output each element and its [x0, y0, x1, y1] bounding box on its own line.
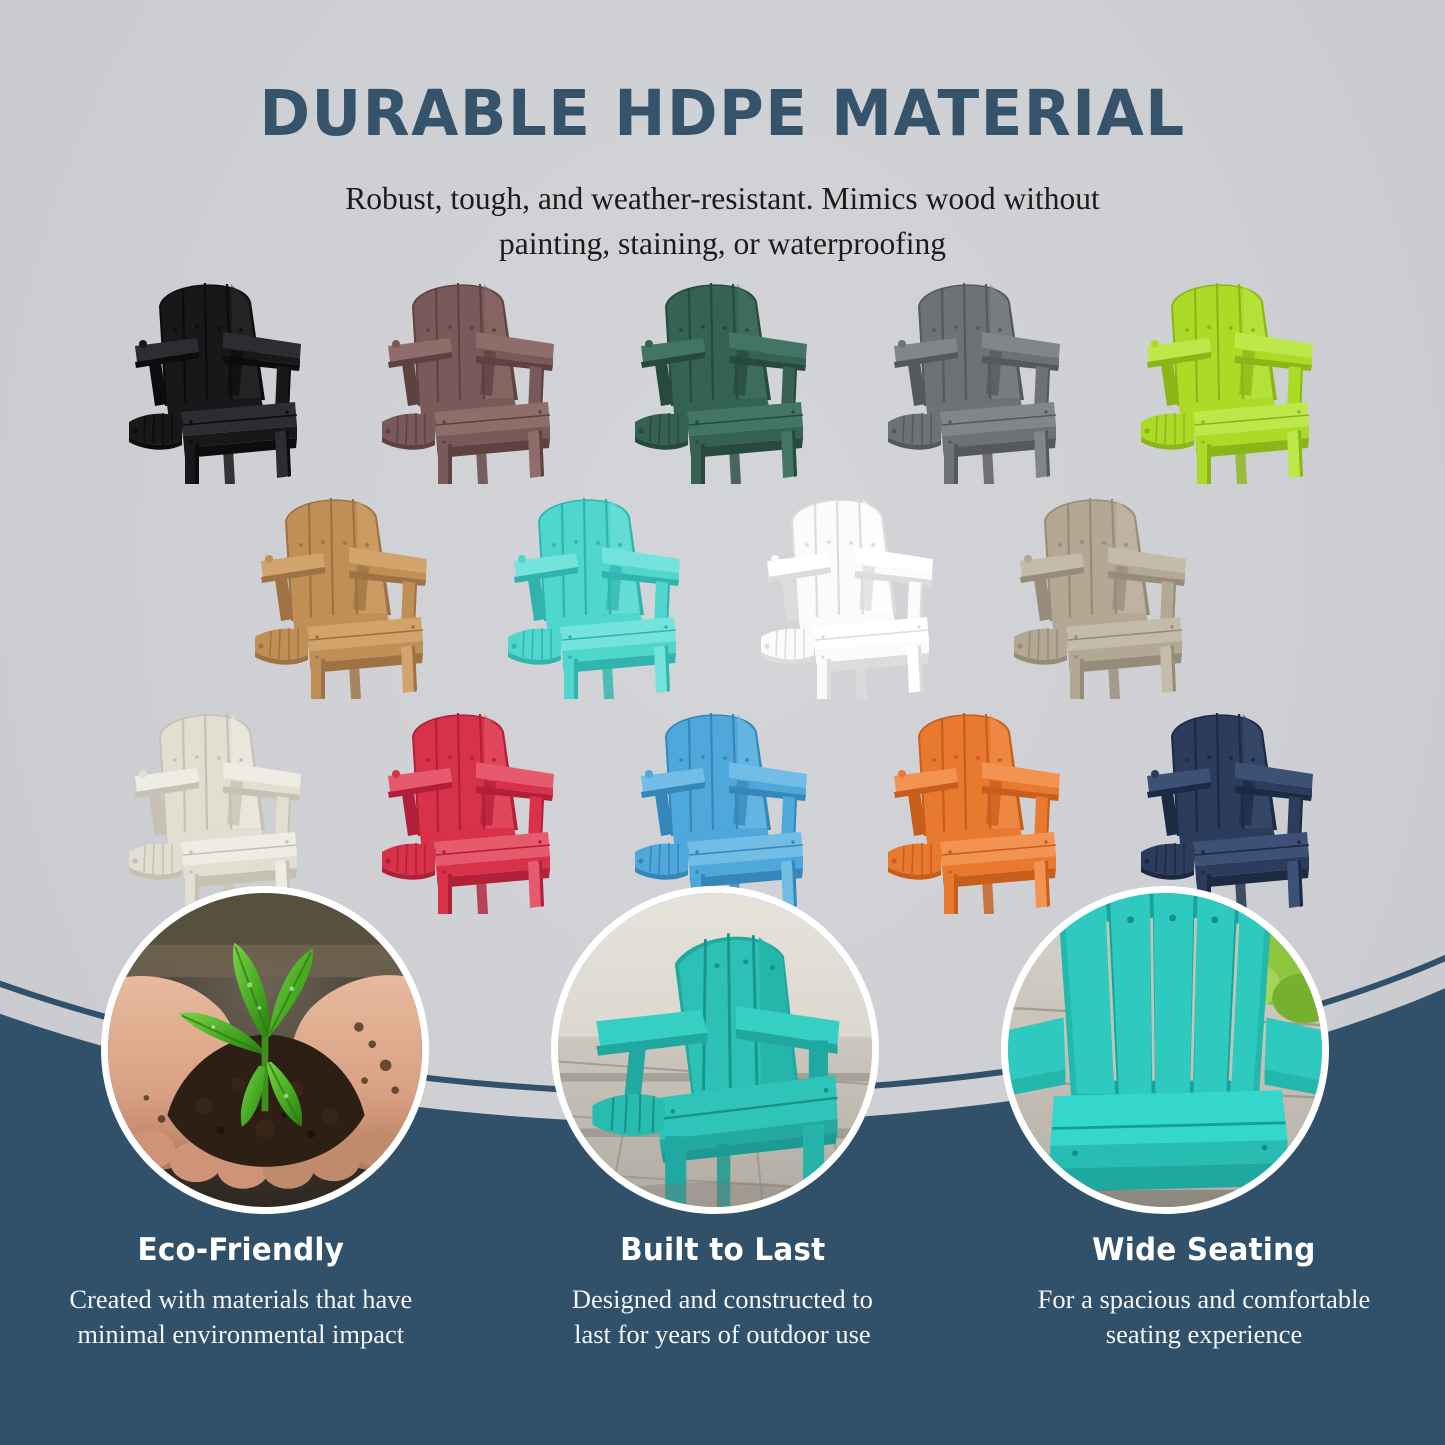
feature-built-to-last: Built to Last Designed and constructed t…	[482, 1232, 964, 1352]
feature-photo-eco-friendly	[101, 886, 429, 1214]
chair-swatch-navy-blue[interactable]	[1131, 702, 1327, 914]
feature-body-line-1: Designed and constructed to	[572, 1284, 873, 1314]
feature-body-line-1: Created with materials that have	[69, 1284, 412, 1314]
feature-photo-wide-seating	[1001, 886, 1329, 1214]
chair-row-1	[0, 272, 1445, 484]
chair-swatch-black[interactable]	[119, 272, 315, 484]
chair-swatch-red[interactable]	[372, 702, 568, 914]
chair-row-3	[0, 702, 1445, 914]
page-title: DURABLE HDPE MATERIAL	[22, 82, 1424, 145]
chair-swatch-gray[interactable]	[878, 272, 1074, 484]
chair-color-grid	[0, 272, 1445, 914]
header: DURABLE HDPE MATERIAL Robust, tough, and…	[0, 0, 1445, 266]
chair-swatch-brown[interactable]	[372, 272, 568, 484]
chair-row-2	[0, 487, 1445, 699]
chair-swatch-lime-green[interactable]	[1131, 272, 1327, 484]
feature-body: For a spacious and comfortable seating e…	[977, 1282, 1431, 1352]
feature-body-line-1: For a spacious and comfortable	[1038, 1284, 1371, 1314]
feature-body-line-2: seating experience	[1106, 1319, 1302, 1349]
chair-swatch-teak[interactable]	[245, 487, 441, 699]
feature-title: Built to Last	[507, 1232, 938, 1268]
infographic-canvas: DURABLE HDPE MATERIAL Robust, tough, and…	[0, 0, 1445, 1445]
feature-captions: Eco-Friendly Created with materials that…	[0, 1232, 1445, 1352]
chair-swatch-dark-green[interactable]	[625, 272, 821, 484]
feature-photo-built-to-last	[551, 886, 879, 1214]
feature-body-line-2: minimal environmental impact	[77, 1319, 404, 1349]
subtitle-line-2: painting, staining, or waterproofing	[0, 222, 1445, 267]
feature-eco-friendly: Eco-Friendly Created with materials that…	[0, 1232, 482, 1352]
feature-title: Eco-Friendly	[25, 1232, 456, 1268]
chair-swatch-turquoise[interactable]	[498, 487, 694, 699]
chair-swatch-orange[interactable]	[878, 702, 1074, 914]
page-subtitle: Robust, tough, and weather-resistant. Mi…	[0, 177, 1445, 266]
feature-title: Wide Seating	[989, 1232, 1420, 1268]
feature-body: Designed and constructed to last for yea…	[496, 1282, 950, 1352]
chair-swatch-taupe[interactable]	[1004, 487, 1200, 699]
feature-photo-row	[0, 886, 1445, 1216]
subtitle-line-1: Robust, tough, and weather-resistant. Mi…	[0, 177, 1445, 222]
feature-body: Created with materials that have minimal…	[14, 1282, 468, 1352]
chair-swatch-sky-blue[interactable]	[625, 702, 821, 914]
feature-body-line-2: last for years of outdoor use	[574, 1319, 871, 1349]
chair-swatch-white[interactable]	[751, 487, 947, 699]
feature-wide-seating: Wide Seating For a spacious and comforta…	[963, 1232, 1445, 1352]
chair-swatch-ivory[interactable]	[119, 702, 315, 914]
